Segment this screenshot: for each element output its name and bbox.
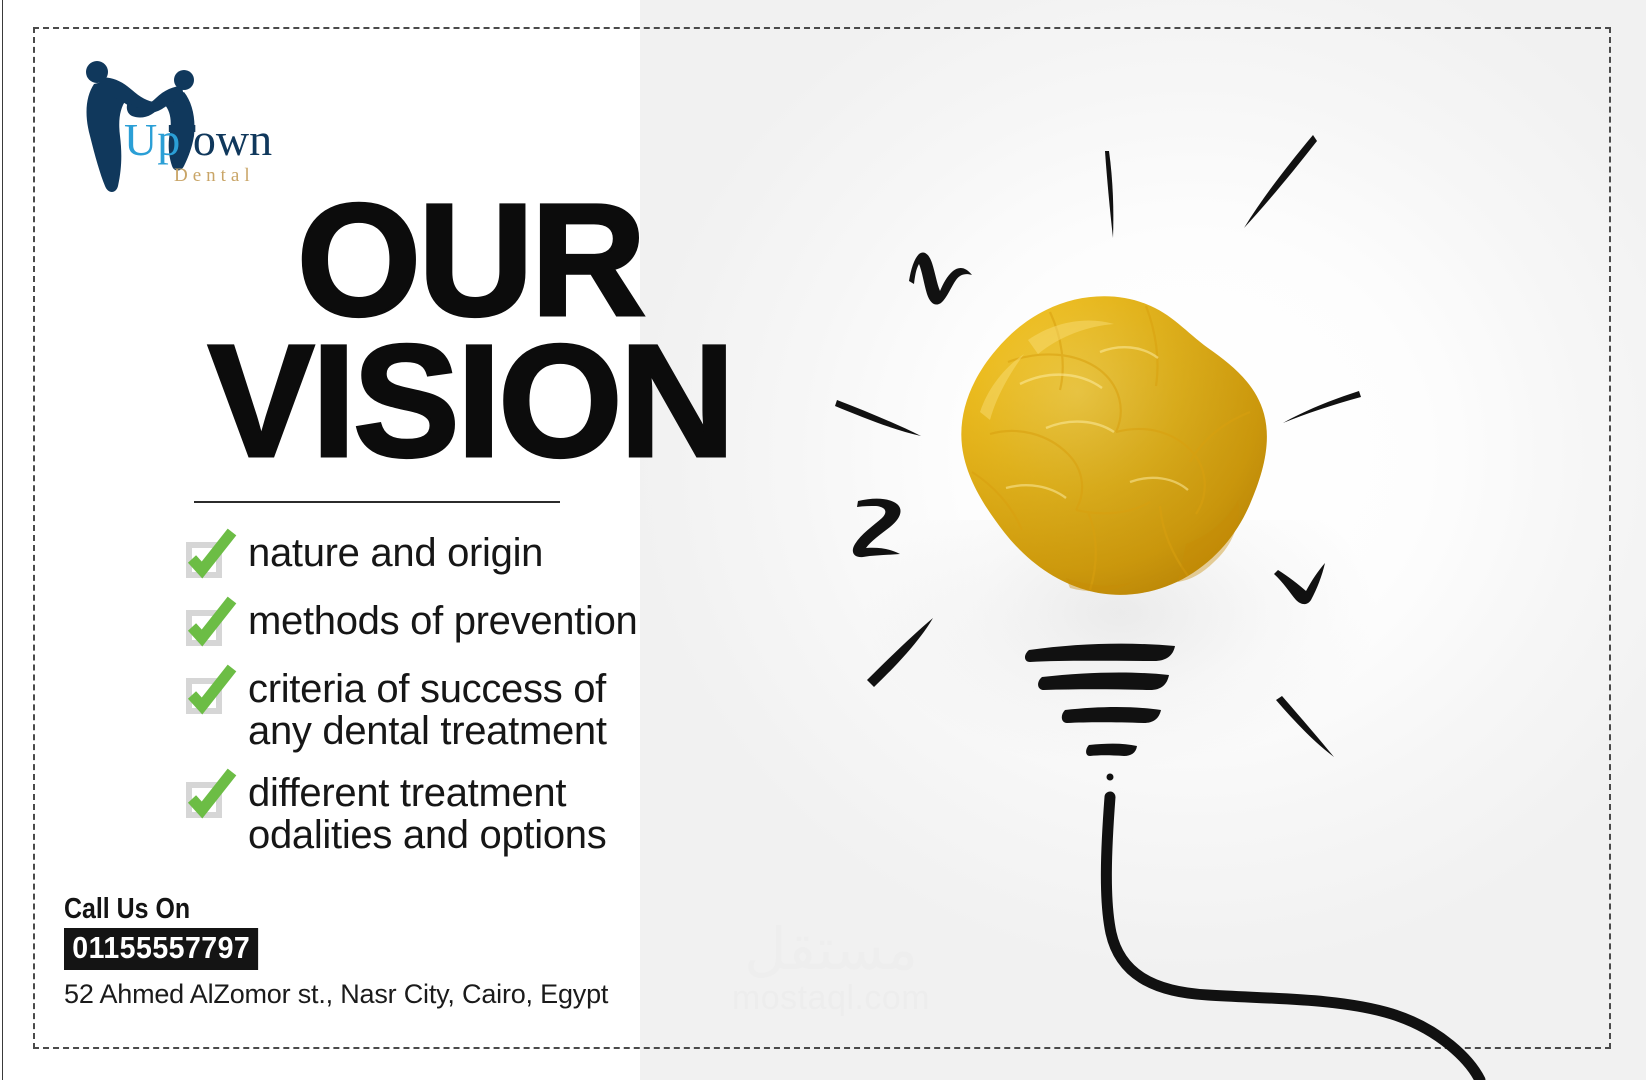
outer-border-line (2, 0, 3, 1080)
page-title: OUR VISION (160, 190, 780, 472)
checkbox-checked-icon[interactable] (186, 538, 226, 578)
list-item[interactable]: methods of prevention (186, 598, 746, 646)
clinic-address: 52 Ahmed AlZomor st., Nasr City, Cairo, … (64, 979, 608, 1010)
crumpled-paper-ball (950, 292, 1274, 604)
uptown-dental-logo[interactable]: Up Town Dental (64, 48, 294, 198)
list-item-label: different treatment odalities and option… (248, 770, 606, 856)
list-item[interactable]: different treatment odalities and option… (186, 770, 746, 856)
logo-text-town: Town (168, 114, 272, 165)
headline-line-2: VISION (160, 331, 780, 472)
checkbox-checked-icon[interactable] (186, 778, 226, 818)
list-item[interactable]: criteria of success of any dental treatm… (186, 666, 746, 752)
contact-footer: Call Us On 01155557797 52 Ahmed AlZomor … (64, 893, 608, 1010)
checkbox-checked-icon[interactable] (186, 606, 226, 646)
lightbulb-wire (1106, 797, 1480, 1080)
phone-number-badge[interactable]: 01155557797 (64, 928, 259, 970)
logo-text-dental: Dental (174, 165, 255, 186)
list-item-label: methods of prevention (248, 598, 638, 642)
list-item-label: nature and origin (248, 530, 543, 574)
list-item-label: criteria of success of any dental treatm… (248, 666, 607, 752)
lightbulb-base-icon (1025, 644, 1175, 781)
checkbox-checked-icon[interactable] (186, 674, 226, 714)
headline-line-1: OUR (160, 190, 780, 331)
poster-canvas: Up Town Dental OUR VISION nature and ori… (0, 0, 1646, 1080)
list-item[interactable]: nature and origin (186, 530, 746, 578)
vision-checklist: nature and origin methods of prevention … (186, 530, 746, 874)
call-us-label: Call Us On (64, 893, 532, 926)
title-divider-rule (194, 501, 560, 503)
